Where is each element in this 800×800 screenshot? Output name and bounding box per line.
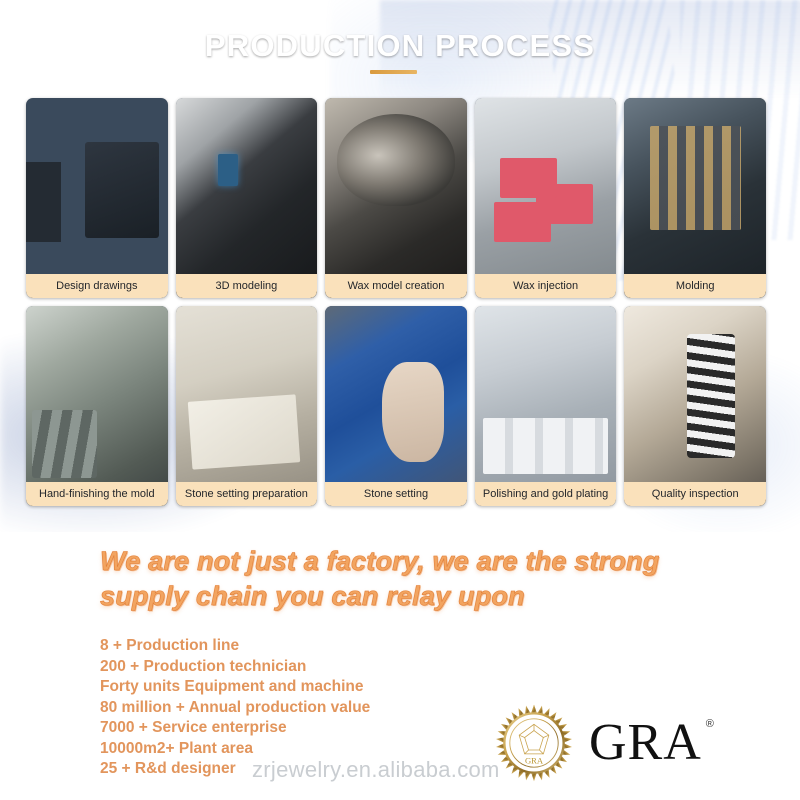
process-step-card-8[interactable]: Stone setting	[325, 306, 467, 506]
process-step-caption: Wax injection	[475, 274, 617, 298]
header: PRODUCTION PROCESS	[0, 0, 800, 92]
gra-logo: GRA GRA ®	[495, 700, 755, 786]
stat-item: 200 + Production technician	[100, 657, 370, 678]
process-step-caption: Stone setting	[325, 482, 467, 506]
gra-seal-text: GRA	[525, 755, 544, 765]
process-photo-stone-setting-preparation	[176, 306, 318, 506]
process-photo-molding	[624, 98, 766, 298]
gra-seal-icon: GRA	[495, 704, 573, 782]
process-photo-wax-injection	[475, 98, 617, 298]
stat-item: Forty units Equipment and machine	[100, 677, 370, 698]
promo-headline: We are not just a factory, we are the st…	[100, 544, 740, 614]
process-photo-wax-model-creation	[325, 98, 467, 298]
registered-trademark-icon: ®	[706, 719, 715, 730]
process-step-caption: Hand-finishing the mold	[26, 482, 168, 506]
process-step-caption: Quality inspection	[624, 482, 766, 506]
title-divider	[370, 70, 417, 74]
process-step-caption: Wax model creation	[325, 274, 467, 298]
process-photo-quality-inspection	[624, 306, 766, 506]
gra-wordmark: GRA ®	[589, 717, 702, 769]
process-step-caption: 3D modeling	[176, 274, 318, 298]
site-watermark: zrjewelry.en.alibaba.com	[252, 757, 500, 783]
process-step-caption: Stone setting preparation	[176, 482, 318, 506]
gra-wordmark-text: GRA	[589, 714, 702, 771]
process-step-card-7[interactable]: Stone setting preparation	[176, 306, 318, 506]
process-step-card-5[interactable]: Molding	[624, 98, 766, 298]
promo-headline-line1: We are not just a factory, we are the st…	[100, 544, 740, 579]
process-photo-design-drawings	[26, 98, 168, 298]
process-photo-hand-finishing	[26, 306, 168, 506]
stat-item: 10000m2+ Plant area	[100, 739, 370, 760]
stat-item: 8 + Production line	[100, 636, 370, 657]
process-step-grid: Design drawings 3D modeling Wax model cr…	[26, 98, 766, 506]
process-step-caption: Molding	[624, 274, 766, 298]
process-step-card-6[interactable]: Hand-finishing the mold	[26, 306, 168, 506]
process-photo-stone-setting	[325, 306, 467, 506]
process-step-card-3[interactable]: Wax model creation	[325, 98, 467, 298]
stat-item: 80 million + Annual production value	[100, 698, 370, 719]
page-title: PRODUCTION PROCESS	[0, 28, 800, 64]
process-step-caption: Design drawings	[26, 274, 168, 298]
production-process-banner: PRODUCTION PROCESS Design drawings 3D mo…	[0, 0, 800, 800]
process-step-card-10[interactable]: Quality inspection	[624, 306, 766, 506]
process-step-card-4[interactable]: Wax injection	[475, 98, 617, 298]
promo-headline-line2: supply chain you can relay upon	[100, 579, 740, 614]
process-step-card-9[interactable]: Polishing and gold plating	[475, 306, 617, 506]
process-photo-polishing-gold-plating	[475, 306, 617, 506]
process-step-card-2[interactable]: 3D modeling	[176, 98, 318, 298]
process-step-caption: Polishing and gold plating	[475, 482, 617, 506]
process-photo-3d-modeling	[176, 98, 318, 298]
process-step-card-1[interactable]: Design drawings	[26, 98, 168, 298]
stat-item: 7000 + Service enterprise	[100, 718, 370, 739]
